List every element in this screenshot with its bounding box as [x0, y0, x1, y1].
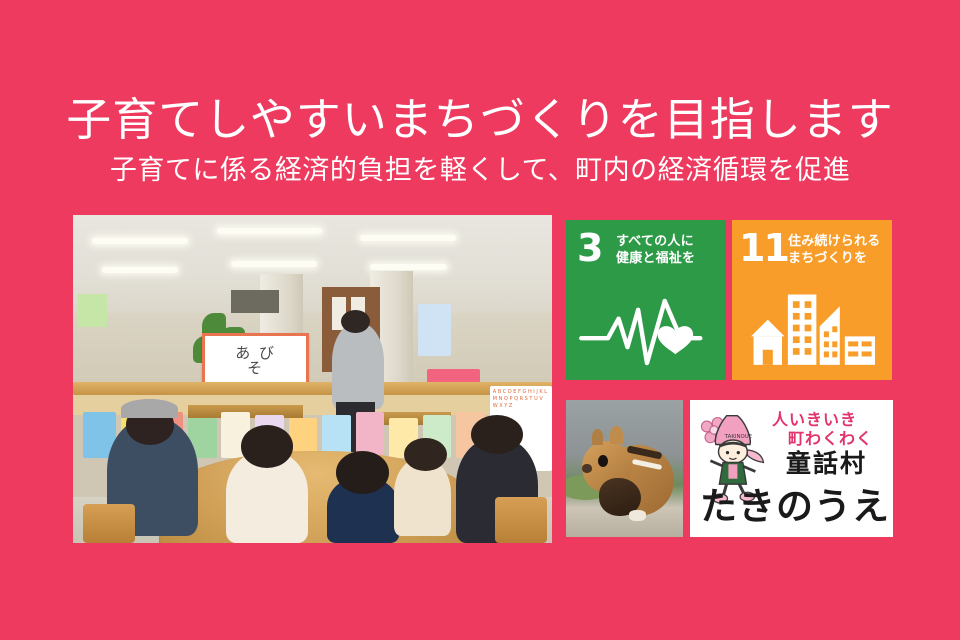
svg-text:TAKINOUE: TAKINOUE — [724, 434, 753, 440]
chipmunk-paw — [629, 510, 645, 521]
ceiling-light — [370, 264, 447, 270]
person-standing — [332, 323, 385, 408]
person-head — [341, 310, 370, 333]
sdg-number: 3 — [577, 229, 603, 267]
ceiling-light — [360, 235, 456, 241]
sdg-label: 住み続けられる まちづくりを — [788, 233, 880, 267]
page-subtitle: 子育てに係る経済的負担を軽くして、町内の経済循環を促進 — [0, 155, 960, 187]
display-sign-line2: そ — [235, 361, 276, 376]
wall-poster — [418, 304, 452, 356]
wall-panel — [231, 290, 279, 313]
chipmunk-ear — [610, 426, 623, 444]
adult-left-hat — [121, 399, 178, 419]
heartbeat-icon — [576, 292, 718, 372]
chair — [495, 497, 548, 543]
logo-mid-line: 童話村 — [786, 444, 867, 480]
chipmunk-nose — [582, 464, 591, 472]
exit-sign — [78, 294, 107, 327]
chair — [83, 504, 136, 543]
chipmunk-ear — [592, 429, 604, 445]
display-sign: あ び そ — [202, 333, 309, 388]
chipmunk-photo — [566, 400, 683, 537]
logo-big-line: たきのうえ — [700, 476, 890, 530]
sdg-label: すべての人に 健康と福祉を — [616, 233, 695, 267]
child-right-head — [336, 451, 389, 494]
ceiling-light — [102, 267, 179, 273]
ceiling-light — [217, 228, 322, 234]
slide-canvas: 子育てしやすいまちづくりを目指します 子育てに係る経済的負担を軽くして、町内の経… — [0, 0, 960, 640]
child-center-head — [241, 425, 294, 468]
town-logo: TAKINOUE 人いきいき 町わくわく 童話村 たきのうえ — [690, 400, 893, 537]
cityscape-icon — [746, 286, 880, 370]
alphabet-poster-text: A B C D E F G H I J K L M N O P Q R S T … — [490, 386, 552, 413]
chipmunk-eye — [598, 455, 609, 467]
page-title: 子育てしやすいまちづくりを目指します — [0, 94, 960, 146]
sdg-number: 11 — [739, 229, 788, 267]
ceiling-light — [92, 238, 188, 244]
sdg-badge-11: 11 住み続けられる まちづくりを — [732, 220, 892, 380]
sdg-badge-3: 3 すべての人に 健康と福祉を — [566, 220, 726, 380]
library-photo: あ び そ A B C D E F G H I J K L M N O P Q … — [73, 215, 552, 543]
small-child-head — [404, 438, 447, 471]
ceiling-light — [231, 261, 317, 267]
shelf-top — [73, 382, 552, 395]
